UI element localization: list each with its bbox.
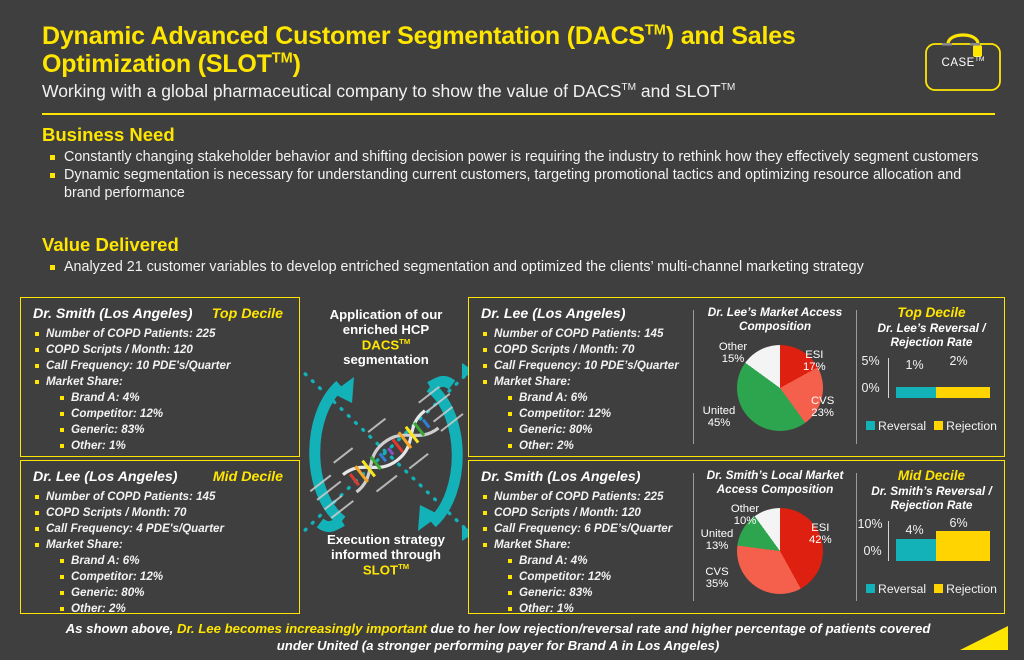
bar-rejection	[936, 387, 990, 398]
chart-title: Dr. Smith’s Reversal / Rejection Rate	[859, 485, 1004, 513]
business-need-bullets: Constantly changing stakeholder behavior…	[42, 149, 992, 202]
flow-label-bottom: Execution strategy informed through SLOT…	[302, 533, 470, 578]
card-dr-smith-top-decile: Dr. Smith (Los Angeles) Top Decile Numbe…	[20, 297, 300, 457]
business-need-heading: Business Need	[42, 124, 992, 146]
segmentation-flow-graphic: Application of our enriched HCP DACSTM s…	[302, 297, 470, 614]
list-item: Number of COPD Patients: 145	[33, 489, 289, 505]
chart-title-line2: Rejection Rate	[891, 335, 973, 349]
pie-value-esi: 17	[803, 361, 816, 373]
tm-superscript: TM	[721, 82, 736, 93]
card-dr-lee-right: Dr. Lee (Los Angeles) Number of COPD Pat…	[469, 298, 693, 454]
list-item: Other: 2%	[481, 438, 683, 454]
pie-label-cvs: CVS23%	[811, 395, 834, 420]
bar-rejection	[936, 531, 990, 561]
y-tick-min: 0%	[862, 381, 880, 395]
list-item: COPD Scripts / Month: 120	[33, 342, 289, 358]
bar-plot-area: 10% 0% 4% 6%	[862, 517, 1002, 579]
chart-legend: Reversal Rejection	[859, 419, 1004, 433]
card-title: Dr. Smith (Los Angeles) Top Decile	[33, 306, 289, 322]
list-item: Brand A: 6%	[481, 390, 683, 406]
panel-dr-smith-detail: Dr. Smith (Los Angeles) Number of COPD P…	[468, 460, 1005, 614]
y-axis-line	[888, 521, 890, 561]
title-part-3: Optimization (SLOT	[42, 50, 272, 78]
decile-badge: Top Decile	[212, 306, 289, 322]
title-part-2: ) and Sales	[666, 22, 796, 50]
list-item: Competitor: 12%	[481, 569, 683, 585]
bar-reversal	[896, 387, 936, 398]
pie-label-esi: ESI42%	[809, 522, 832, 547]
bar-plot-area: 5% 0% 1% 2%	[862, 354, 1002, 416]
chart-title: Dr. Lee’s Reversal / Rejection Rate	[859, 322, 1004, 350]
list-item: Brand A: 4%	[33, 390, 289, 406]
chart-legend: Reversal Rejection	[859, 582, 1004, 596]
list-item: Market Share:	[481, 374, 683, 390]
panel-divider	[856, 310, 857, 444]
case-text: CASE	[942, 57, 975, 69]
card-title: Dr. Lee (Los Angeles) Mid Decile	[33, 469, 289, 485]
chart-title-line1: Dr. Lee’s Market Access	[708, 305, 842, 319]
pie-value-esi: 42	[809, 534, 822, 546]
list-item: Generic: 80%	[33, 585, 289, 601]
list-item: Call Frequency: 4 PDE's/Quarter	[33, 521, 289, 537]
y-tick-max: 10%	[858, 517, 883, 531]
pie-label-cvs-text: CVS	[705, 566, 728, 578]
page-subtitle: Working with a global pharmaceutical com…	[42, 81, 922, 101]
list-item: Brand A: 4%	[481, 553, 683, 569]
list-item: Call Frequency: 6 PDE’s/Quarter	[481, 521, 683, 537]
pie-wrapper: ESI17% CVS23% United45% Other15%	[695, 337, 855, 455]
legend-item-rejection: Rejection	[934, 419, 997, 433]
card-dr-smith-right: Dr. Smith (Los Angeles) Number of COPD P…	[469, 461, 693, 617]
pie-label-united: United13%	[691, 528, 743, 553]
decile-heading: Top Decile	[859, 305, 1004, 320]
pie-label-esi-text: ESI	[805, 349, 823, 361]
list-item: Competitor: 12%	[33, 406, 289, 422]
corner-triangle-icon	[958, 624, 1010, 650]
title-part-1: Dynamic Advanced Customer Segmentation (…	[42, 22, 645, 50]
list-item: Generic: 83%	[33, 422, 289, 438]
value-label-reversal: 4%	[906, 523, 924, 537]
list-item: Brand A: 6%	[33, 553, 289, 569]
list-item: Generic: 83%	[481, 585, 683, 601]
list-item: Number of COPD Patients: 225	[33, 326, 289, 342]
list-item: Number of COPD Patients: 225	[481, 489, 683, 505]
pie-label-united-text: United	[701, 528, 734, 540]
pie-label-esi: ESI17%	[803, 349, 826, 374]
chart-dr-lee-market-access: Dr. Lee’s Market Access Composition ESI1…	[695, 306, 855, 455]
list-item: Market Share:	[33, 374, 289, 390]
value-label-rejection: 6%	[950, 516, 968, 530]
chart-dr-smith-market-access: Dr. Smith’s Local Market Access Composit…	[695, 469, 855, 618]
value-label-rejection: 2%	[950, 354, 968, 368]
chart-title: Dr. Smith’s Local Market Access Composit…	[695, 469, 855, 497]
legend-swatch-rejection	[934, 584, 943, 593]
pie-label-other: Other15%	[707, 341, 759, 366]
list-item: Competitor: 12%	[481, 406, 683, 422]
title-part-4: )	[293, 50, 301, 78]
list-item: COPD Scripts / Month: 120	[481, 505, 683, 521]
chart-dr-lee-reversal-rejection: Top Decile Dr. Lee’s Reversal / Rejectio…	[859, 305, 1004, 433]
legend-item-reversal: Reversal	[866, 582, 926, 596]
pie-value-united: 13	[706, 540, 719, 552]
bar-reversal	[896, 539, 936, 561]
chart-dr-smith-reversal-rejection: Mid Decile Dr. Smith’s Reversal / Reject…	[859, 468, 1004, 596]
list-item: Other: 2%	[33, 601, 289, 617]
card-title: Dr. Smith (Los Angeles)	[481, 469, 683, 485]
card-details: Number of COPD Patients: 225 COPD Script…	[33, 326, 289, 454]
legend-label-reversal: Reversal	[878, 582, 926, 596]
list-item: Call Frequency: 10 PDE’s/Quarter	[481, 358, 683, 374]
pie-label-cvs: CVS35%	[693, 566, 741, 591]
tm-superscript: TM	[975, 56, 985, 63]
pie-label-other-text: Other	[719, 341, 747, 353]
flow-bottom-line1: Execution strategy	[327, 532, 445, 547]
value-delivered-bullets: Analyzed 21 customer variables to develo…	[42, 259, 992, 276]
y-axis-line	[888, 358, 890, 398]
briefcase-icon: CASETM	[920, 24, 1006, 96]
card-details: Number of COPD Patients: 225 COPD Script…	[481, 489, 683, 617]
footer-part-1: As shown above,	[66, 621, 177, 636]
card-title: Dr. Lee (Los Angeles)	[481, 306, 683, 322]
case-icon-label: CASETM	[920, 56, 1006, 69]
legend-swatch-reversal	[866, 584, 875, 593]
flow-bottom-slot: SLOT	[363, 562, 398, 577]
card-details: Number of COPD Patients: 145 COPD Script…	[481, 326, 683, 454]
y-tick-min: 0%	[864, 544, 882, 558]
chart-title-line2: Rejection Rate	[891, 498, 973, 512]
value-label-reversal: 1%	[906, 358, 924, 372]
list-item: Generic: 80%	[481, 422, 683, 438]
header-divider	[42, 113, 995, 115]
list-item: Dynamic segmentation is necessary for un…	[42, 167, 992, 202]
tm-superscript: TM	[272, 51, 293, 67]
pie-label-united-text: United	[703, 405, 736, 417]
panel-dr-lee-detail: Dr. Lee (Los Angeles) Number of COPD Pat…	[468, 297, 1005, 457]
subtitle-part-1: Working with a global pharmaceutical com…	[42, 81, 621, 101]
pie-value-cvs: 23	[811, 407, 824, 419]
doctor-name: Dr. Lee (Los Angeles)	[33, 469, 178, 485]
panel-divider	[856, 473, 857, 601]
pie-label-other-text: Other	[731, 503, 759, 515]
subtitle-part-2: and SLOT	[636, 81, 721, 101]
pie-value-united: 45	[708, 417, 721, 429]
list-item: Other: 1%	[481, 601, 683, 617]
list-item: Call Frequency: 10 PDE's/Quarter	[33, 358, 289, 374]
footer-note: As shown above, Dr. Lee becomes increasi…	[48, 620, 948, 654]
legend-label-rejection: Rejection	[946, 419, 997, 433]
legend-label-rejection: Rejection	[946, 582, 997, 596]
footer-highlight: Dr. Lee becomes increasingly important	[177, 621, 427, 636]
legend-label-reversal: Reversal	[878, 419, 926, 433]
legend-swatch-rejection	[934, 421, 943, 430]
chart-title-line2: Access Composition	[717, 482, 834, 496]
tm-superscript: TM	[645, 23, 666, 39]
slide: Dynamic Advanced Customer Segmentation (…	[0, 0, 1024, 660]
chart-title-line2: Composition	[739, 319, 811, 333]
card-dr-lee-mid-decile: Dr. Lee (Los Angeles) Mid Decile Number …	[20, 460, 300, 614]
pie-wrapper: ESI42% CVS35% United13% Other10%	[695, 500, 855, 618]
list-item: COPD Scripts / Month: 70	[481, 342, 683, 358]
chart-title-line1: Dr. Smith’s Local Market	[707, 468, 844, 482]
chart-title-line1: Dr. Lee’s Reversal /	[878, 321, 986, 335]
legend-item-reversal: Reversal	[866, 419, 926, 433]
legend-item-rejection: Rejection	[934, 582, 997, 596]
chart-title-line1: Dr. Smith’s Reversal /	[871, 484, 991, 498]
pie-value-cvs: 35	[706, 578, 719, 590]
decile-heading: Mid Decile	[859, 468, 1004, 483]
list-item: Number of COPD Patients: 145	[481, 326, 683, 342]
flow-bottom-line2: informed through	[331, 547, 441, 562]
pie-value-other: 10	[734, 515, 747, 527]
list-item: COPD Scripts / Month: 70	[33, 505, 289, 521]
pie-value-other: 15	[722, 353, 735, 365]
list-item: Market Share:	[33, 537, 289, 553]
business-need-section: Business Need Constantly changing stakeh…	[42, 124, 992, 203]
list-item: Other: 1%	[33, 438, 289, 454]
doctor-name: Dr. Smith (Los Angeles)	[33, 306, 193, 322]
pie-label-esi-text: ESI	[811, 522, 829, 534]
pie-label-united: United45%	[693, 405, 745, 430]
page-title: Dynamic Advanced Customer Segmentation (…	[42, 22, 922, 78]
card-details: Number of COPD Patients: 145 COPD Script…	[33, 489, 289, 617]
decile-badge: Mid Decile	[213, 469, 289, 485]
legend-swatch-reversal	[866, 421, 875, 430]
list-item: Analyzed 21 customer variables to develo…	[42, 259, 992, 276]
pie-label-other: Other10%	[719, 503, 771, 528]
list-item: Competitor: 12%	[33, 569, 289, 585]
pie-label-cvs-text: CVS	[811, 395, 834, 407]
corner-accent-mark	[958, 624, 1010, 650]
value-delivered-section: Value Delivered Analyzed 21 customer var…	[42, 234, 992, 277]
tm-superscript: TM	[621, 82, 636, 93]
list-item: Market Share:	[481, 537, 683, 553]
tm-superscript: TM	[398, 562, 409, 571]
header: Dynamic Advanced Customer Segmentation (…	[42, 22, 922, 101]
y-tick-max: 5%	[862, 354, 880, 368]
chart-title: Dr. Lee’s Market Access Composition	[695, 306, 855, 334]
list-item: Constantly changing stakeholder behavior…	[42, 149, 992, 166]
value-delivered-heading: Value Delivered	[42, 234, 992, 256]
